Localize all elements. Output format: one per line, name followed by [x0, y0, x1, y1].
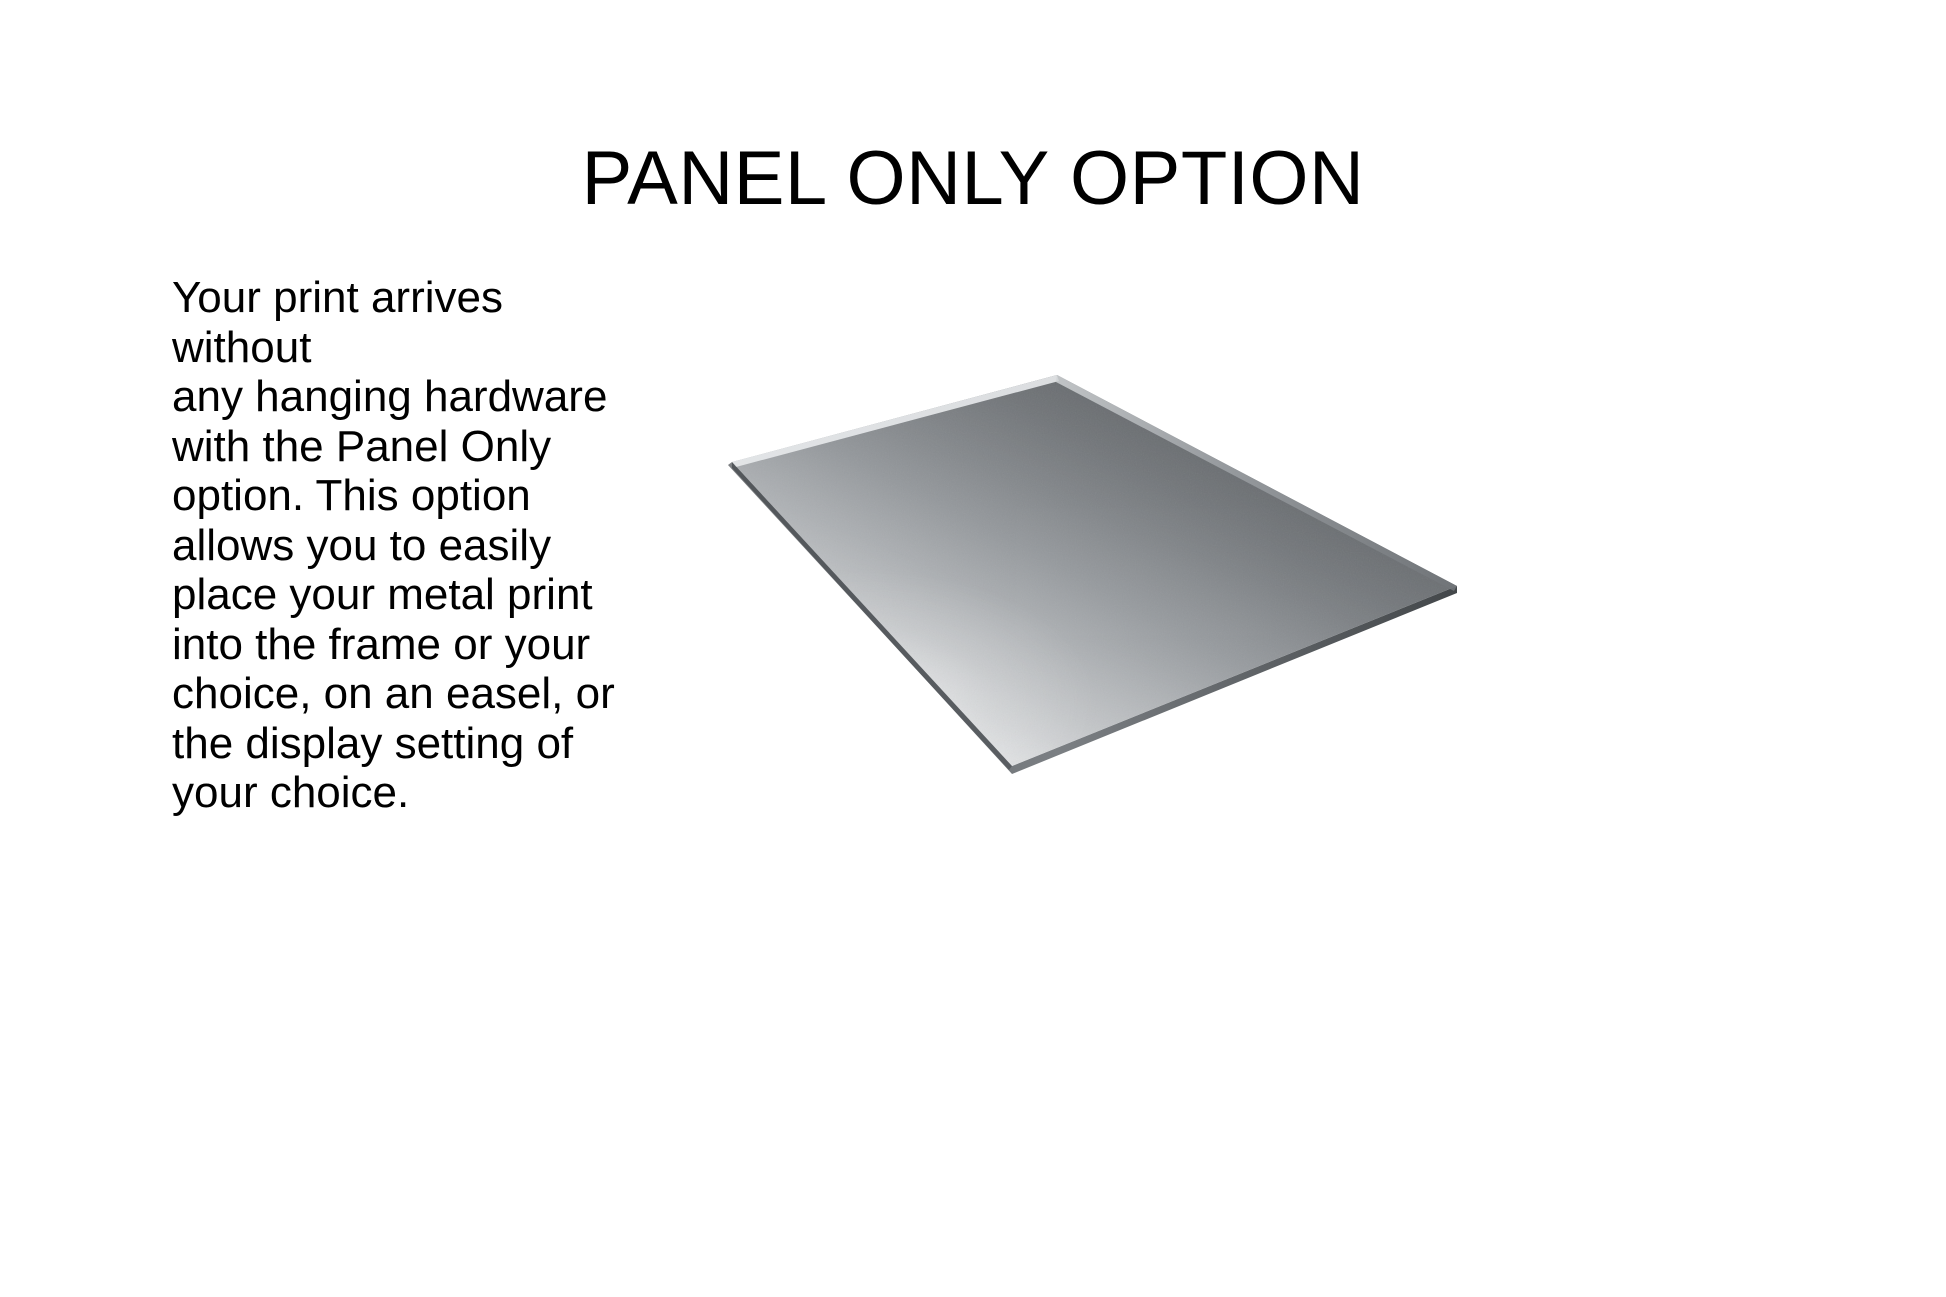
slide-canvas: PANEL ONLY OPTION Your print arrives wit…: [0, 0, 1946, 1297]
body-line: option. This option: [172, 471, 624, 521]
body-line: into the frame or your: [172, 620, 624, 670]
body-line: the display setting of: [172, 719, 624, 769]
body-line: place your metal print: [172, 570, 624, 620]
body-paragraph: Your print arrives without any hanging h…: [172, 273, 624, 818]
metal-panel-image: [700, 350, 1500, 810]
body-line: choice, on an easel, or: [172, 669, 624, 719]
body-line: Your print arrives without: [172, 273, 624, 372]
body-line: allows you to easily: [172, 521, 624, 571]
panel-grain-texture: [700, 350, 1500, 810]
body-line: with the Panel Only: [172, 422, 624, 472]
body-line: any hanging hardware: [172, 372, 624, 422]
page-title: PANEL ONLY OPTION: [0, 135, 1946, 223]
metal-panel-svg: [700, 350, 1500, 810]
body-line: your choice.: [172, 768, 624, 818]
